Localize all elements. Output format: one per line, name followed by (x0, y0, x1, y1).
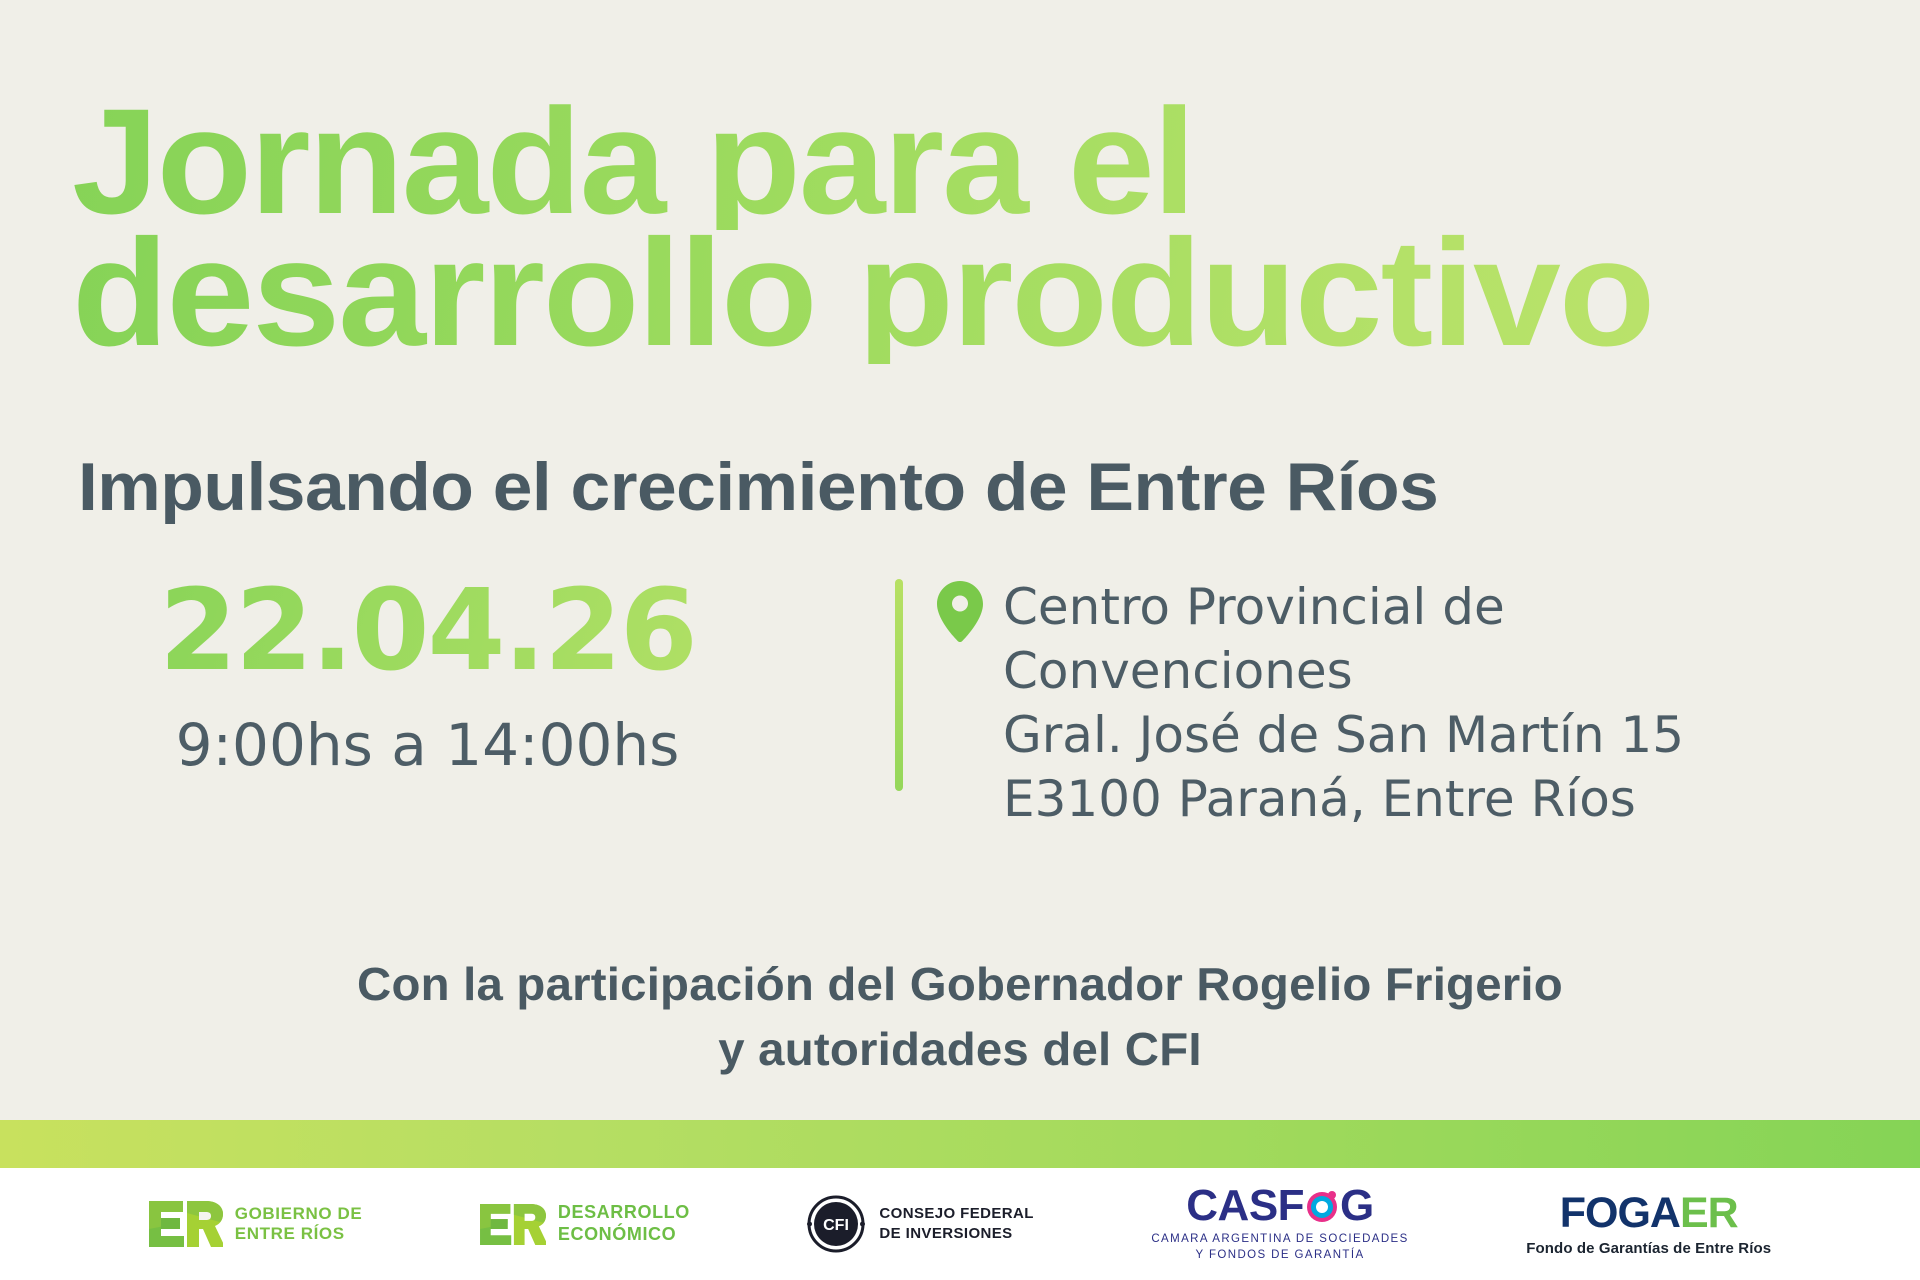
logo-cfi-line-2: DE INVERSIONES (879, 1224, 1033, 1244)
venue-line-1: Centro Provincial de (1003, 575, 1684, 639)
er-monogram-icon (149, 1201, 223, 1247)
logo-casfog-word-b: G (1340, 1184, 1374, 1228)
logo-gobierno-entre-rios: GOBIERNO DE ENTRE RÍOS (149, 1201, 363, 1247)
logo-cfi: CFI CONSEJO FEDERAL DE INVERSIONES (807, 1195, 1033, 1253)
logo-desarrollo-text: DESARROLLO ECONÓMICO (558, 1202, 690, 1245)
logo-gobierno-line-2: ENTRE RÍOS (235, 1224, 363, 1244)
er-monogram-icon (480, 1204, 546, 1245)
venue-line-3: Gral. José de San Martín 15 (1003, 703, 1684, 767)
svg-text:CFI: CFI (824, 1217, 850, 1234)
logo-fogaer-subtext: Fondo de Garantías de Entre Ríos (1526, 1240, 1771, 1257)
logo-casfog-sub-2: Y FONDOS DE GARANTÍA (1151, 1248, 1408, 1264)
vertical-divider (895, 579, 903, 791)
logo-desarrollo-economico: DESARROLLO ECONÓMICO (480, 1202, 690, 1245)
casfog-o-icon (1305, 1189, 1339, 1223)
event-date: 22.04.26 (0, 575, 855, 687)
participation-note: Con la participación del Gobernador Roge… (0, 952, 1920, 1083)
logo-fogaer-word-b: ER (1680, 1189, 1738, 1237)
logo-fogaer: FOGAER Fondo de Garantías de Entre Ríos (1526, 1192, 1771, 1257)
logo-fogaer-word-a: FOGA (1560, 1189, 1680, 1237)
logo-gobierno-line-1: GOBIERNO DE (235, 1204, 363, 1224)
logo-casfog-wordmark: CASF G (1151, 1184, 1408, 1228)
logo-cfi-text: CONSEJO FEDERAL DE INVERSIONES (879, 1204, 1033, 1245)
participation-line-1: Con la participación del Gobernador Roge… (0, 952, 1920, 1017)
cfi-badge-icon: CFI (807, 1195, 865, 1253)
logo-fogaer-wordmark: FOGAER (1526, 1192, 1771, 1235)
venue-line-2: Convenciones (1003, 639, 1684, 703)
title-line-2: desarrollo productivo (72, 224, 1920, 364)
logo-casfog-word-a: CASF (1186, 1184, 1304, 1228)
map-pin-icon (937, 581, 983, 643)
logo-casfog-subtext: CAMARA ARGENTINA DE SOCIEDADES Y FONDOS … (1151, 1232, 1408, 1263)
logo-casfog: CASF G CAMARA ARGENTINA DE SOCIEDADES Y … (1151, 1184, 1408, 1263)
logo-desarrollo-line-2: ECONÓMICO (558, 1224, 690, 1246)
hero-subtitle: Impulsando el crecimiento de Entre Ríos (78, 448, 1438, 526)
logo-cfi-line-1: CONSEJO FEDERAL (879, 1204, 1033, 1224)
event-time: 9:00hs a 14:00hs (0, 711, 855, 779)
participation-line-2: y autoridades del CFI (0, 1017, 1920, 1082)
gradient-divider-bar (0, 1120, 1920, 1168)
footer-logo-strip: GOBIERNO DE ENTRE RÍOS DESARROLLO ECONÓM… (0, 1168, 1920, 1280)
venue-address: Centro Provincial de Convenciones Gral. … (1003, 575, 1684, 831)
event-venue-block: Centro Provincial de Convenciones Gral. … (903, 575, 1684, 831)
logo-desarrollo-line-1: DESARROLLO (558, 1202, 690, 1224)
event-date-block: 22.04.26 9:00hs a 14:00hs (0, 575, 895, 779)
event-info-row: 22.04.26 9:00hs a 14:00hs Centro Provinc… (0, 575, 1920, 831)
logo-casfog-sub-1: CAMARA ARGENTINA DE SOCIEDADES (1151, 1232, 1408, 1248)
venue-line-4: E3100 Paraná, Entre Ríos (1003, 767, 1684, 831)
poster-canvas: Jornada para el desarrollo productivo Im… (0, 0, 1920, 1280)
logo-gobierno-text: GOBIERNO DE ENTRE RÍOS (235, 1204, 363, 1245)
hero-title: Jornada para el desarrollo productivo (72, 92, 1852, 364)
